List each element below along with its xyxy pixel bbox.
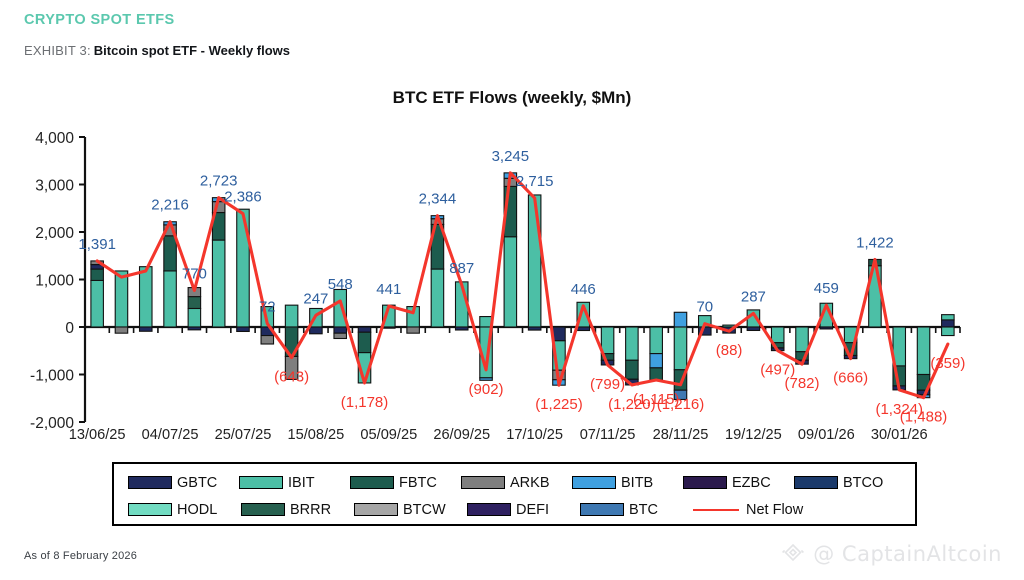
bar-value-label: 2,715 (516, 173, 554, 190)
bar-segment-ibit (164, 271, 177, 327)
legend-swatch-gbtc (128, 476, 172, 489)
legend-item-btco[interactable]: BTCO (794, 475, 905, 491)
bar-value-label: 2,723 (200, 173, 238, 190)
x-axis-tick-label: 15/08/25 (287, 427, 344, 440)
bar-value-label: 887 (449, 260, 474, 277)
bar-value-label: 770 (182, 265, 207, 282)
bar-segment-ibit (91, 280, 104, 327)
bar-stack (771, 327, 784, 351)
bar-segment-ibit (796, 327, 809, 352)
legend-swatch-hodl (128, 503, 172, 516)
legend-item-gbtc[interactable]: GBTC (128, 475, 239, 491)
bar-segment-gbtc (310, 327, 323, 334)
legend-swatch-bitb (572, 476, 616, 489)
bar-stack (528, 195, 541, 330)
bar-segment-ibit (115, 271, 128, 327)
bar-value-label: 441 (376, 281, 401, 298)
diamond-logo-icon (780, 541, 806, 567)
x-axis-tick-label: 17/10/25 (506, 427, 563, 440)
section-kicker: CRYPTO SPOT ETFS (24, 12, 175, 28)
bar-stack (601, 327, 614, 365)
chart-legend: GBTCIBITFBTCARKBBITBEZBCBTCO HODLBRRRBTC… (112, 462, 917, 526)
bar-segment-gbtc (820, 327, 833, 329)
bar-value-label: (1,488) (900, 409, 948, 426)
bar-value-label: (799) (590, 376, 625, 393)
bar-value-label: (782) (784, 375, 819, 392)
bar-segment-ibit (771, 327, 784, 343)
bar-segment-fbtc (650, 368, 663, 380)
legend-label: EZBC (732, 475, 771, 491)
chart-title: BTC ETF Flows (weekly, $Mn) (0, 88, 1024, 108)
bar-value-label: (1,216) (657, 396, 705, 413)
bar-segment-arkb (115, 327, 128, 333)
bar-stack (650, 327, 663, 380)
legend-swatch-btcw (354, 503, 398, 516)
bar-value-label: 72 (259, 299, 276, 316)
x-axis-tick-label: 25/07/25 (215, 427, 272, 440)
bar-value-label: (1,178) (341, 394, 389, 411)
legend-swatch-btc (580, 503, 624, 516)
bar-segment-gbtc (358, 327, 371, 332)
bar-segment-ibit (674, 327, 687, 370)
bar-segment-gbtc (188, 327, 201, 330)
legend-label: DEFI (516, 502, 549, 518)
bar-value-label: 1,422 (856, 234, 894, 251)
bar-segment-ibit (942, 315, 955, 320)
legend-item-arkb[interactable]: ARKB (461, 475, 572, 491)
bar-value-label: (1,225) (535, 396, 583, 413)
bar-segment-ibit (650, 327, 663, 354)
watermark: @ CaptainAltcoin (780, 541, 1002, 567)
legend-label: ARKB (510, 475, 550, 491)
bar-stack (626, 327, 639, 385)
bar-segment-ibit (601, 327, 614, 354)
bar-segment-gbtc (577, 327, 590, 331)
y-axis-tick-label: 0 (65, 320, 74, 337)
chart-page: CRYPTO SPOT ETFS EXHIBIT 3:Bitcoin spot … (0, 0, 1024, 580)
legend-item-hodl[interactable]: HODL (128, 502, 241, 518)
x-axis-tick-label: 26/09/25 (433, 427, 490, 440)
bar-segment-arkb (407, 327, 420, 333)
legend-label: BRRR (290, 502, 331, 518)
legend-row-2: HODLBRRRBTCWDEFIBTCNet Flow (128, 496, 905, 523)
bar-segment-ibit (334, 289, 347, 327)
bar-segment-ibit (917, 327, 930, 375)
bar-segment-arkb (334, 333, 347, 338)
watermark-text: @ CaptainAltcoin (813, 542, 1002, 566)
bar-segment-gbtc (528, 327, 541, 330)
bar-segment-ibit (188, 308, 201, 327)
legend-item-fbtc[interactable]: FBTC (350, 475, 461, 491)
bar-stack (115, 271, 128, 333)
bar-stack (942, 315, 955, 336)
bar-value-label: (88) (716, 342, 743, 359)
bar-segment-bitb (650, 354, 663, 368)
legend-label: Net Flow (746, 502, 803, 518)
y-axis-tick-label: -2,000 (30, 415, 74, 432)
chart-plot-area: 4,0003,0002,0001,0000-1,000-2,0001,3912,… (0, 120, 1024, 440)
legend-label: BTCW (403, 502, 446, 518)
legend-item-ibit[interactable]: IBIT (239, 475, 350, 491)
bar-value-label: 548 (328, 276, 353, 293)
legend-swatch-btco (794, 476, 838, 489)
bar-segment-ibit (212, 240, 225, 327)
bar-value-label: 2,216 (151, 197, 189, 214)
bar-segment-ibit (140, 267, 153, 327)
bar-stack (358, 327, 371, 383)
bar-segment-gbtc (942, 320, 955, 327)
x-axis-tick-label: 30/01/26 (871, 427, 928, 440)
bar-segment-gbtc (553, 327, 566, 341)
bar-value-label: 2,386 (224, 189, 262, 206)
legend-label: GBTC (177, 475, 217, 491)
exhibit-heading: EXHIBIT 3:Bitcoin spot ETF - Weekly flow… (24, 43, 290, 58)
bar-value-label: 247 (303, 290, 328, 307)
bar-stack (91, 261, 104, 327)
bar-segment-bitb (674, 312, 687, 327)
y-axis-tick-label: 2,000 (35, 225, 74, 242)
legend-label: BTCO (843, 475, 883, 491)
legend-swatch-defi (467, 503, 511, 516)
bar-segment-gbtc (334, 327, 347, 333)
bar-value-label: (666) (833, 370, 868, 387)
legend-row-1: GBTCIBITFBTCARKBBITBEZBCBTCO (128, 469, 905, 496)
bar-value-label: (643) (274, 369, 309, 386)
bar-segment-gbtc (140, 327, 153, 331)
exhibit-number-label: EXHIBIT 3: (24, 43, 91, 58)
bar-segment-fbtc (164, 236, 177, 271)
legend-item-net-flow[interactable]: Net Flow (693, 502, 806, 518)
legend-swatch-ibit (239, 476, 283, 489)
legend-item-btc[interactable]: BTC (580, 502, 693, 518)
bar-stack (140, 267, 153, 332)
bar-segment-gbtc (455, 327, 468, 330)
bar-segment-fbtc (626, 360, 639, 379)
legend-item-defi[interactable]: DEFI (467, 502, 580, 518)
bar-stack (188, 288, 201, 330)
x-axis-tick-label: 05/09/25 (360, 427, 417, 440)
bar-stack (796, 327, 809, 364)
bar-segment-fbtc (91, 269, 104, 280)
bar-segment-arkb (261, 336, 274, 344)
bar-segment-ibit (285, 305, 298, 327)
legend-swatch-ezbc (683, 476, 727, 489)
legend-swatch-brrr (241, 503, 285, 516)
legend-item-bitb[interactable]: BITB (572, 475, 683, 491)
y-axis-tick-label: 1,000 (35, 273, 74, 290)
bar-value-label: (359) (930, 355, 965, 372)
bar-value-label: 1,391 (78, 236, 116, 253)
bar-segment-ibit (431, 269, 444, 327)
bar-segment-ibit (504, 237, 517, 327)
bar-segment-fbtc (358, 332, 371, 352)
bar-value-label: (902) (469, 381, 504, 398)
x-axis-tick-label: 13/06/25 (69, 427, 126, 440)
y-axis-tick-label: -1,000 (30, 368, 74, 385)
legend-swatch-fbtc (350, 476, 394, 489)
net-flow-line-swatch (693, 509, 739, 511)
y-axis-tick-label: 3,000 (35, 178, 74, 195)
bar-segment-ibit (942, 327, 955, 336)
x-axis-tick-label: 19/12/25 (725, 427, 782, 440)
x-axis-tick-label: 04/07/25 (142, 427, 199, 440)
legend-label: IBIT (288, 475, 315, 491)
bar-value-label: 3,245 (492, 148, 530, 165)
bar-stack (674, 312, 687, 399)
legend-item-brrr[interactable]: BRRR (241, 502, 354, 518)
bar-segment-gbtc (747, 327, 760, 330)
bar-segment-brrr (188, 297, 201, 309)
legend-label: FBTC (399, 475, 437, 491)
bar-segment-ibit (626, 327, 639, 360)
exhibit-title: Bitcoin spot ETF - Weekly flows (94, 43, 290, 58)
bar-value-label: 70 (696, 299, 713, 316)
bar-segment-gbtc (237, 327, 250, 331)
legend-label: BITB (621, 475, 653, 491)
x-axis-tick-label: 07/11/25 (580, 427, 636, 440)
bar-stack (869, 259, 882, 327)
bar-segment-gbtc (383, 327, 396, 328)
y-axis-tick-label: 4,000 (35, 130, 74, 147)
legend-item-ezbc[interactable]: EZBC (683, 475, 794, 491)
legend-label: BTC (629, 502, 658, 518)
bar-chart-svg: 4,0003,0002,0001,0000-1,000-2,0001,3912,… (0, 120, 1024, 440)
bar-value-label: 2,344 (419, 191, 457, 208)
as-of-note: As of 8 February 2026 (24, 550, 137, 562)
bar-value-label: 446 (571, 281, 596, 298)
legend-label: HODL (177, 502, 217, 518)
bar-value-label: 459 (814, 280, 839, 297)
legend-item-btcw[interactable]: BTCW (354, 502, 467, 518)
x-axis-tick-label: 09/01/26 (798, 427, 855, 440)
bar-value-label: 287 (741, 288, 766, 305)
legend-swatch-arkb (461, 476, 505, 489)
bar-segment-ibit (528, 195, 541, 327)
x-axis-tick-label: 28/11/25 (653, 427, 709, 440)
